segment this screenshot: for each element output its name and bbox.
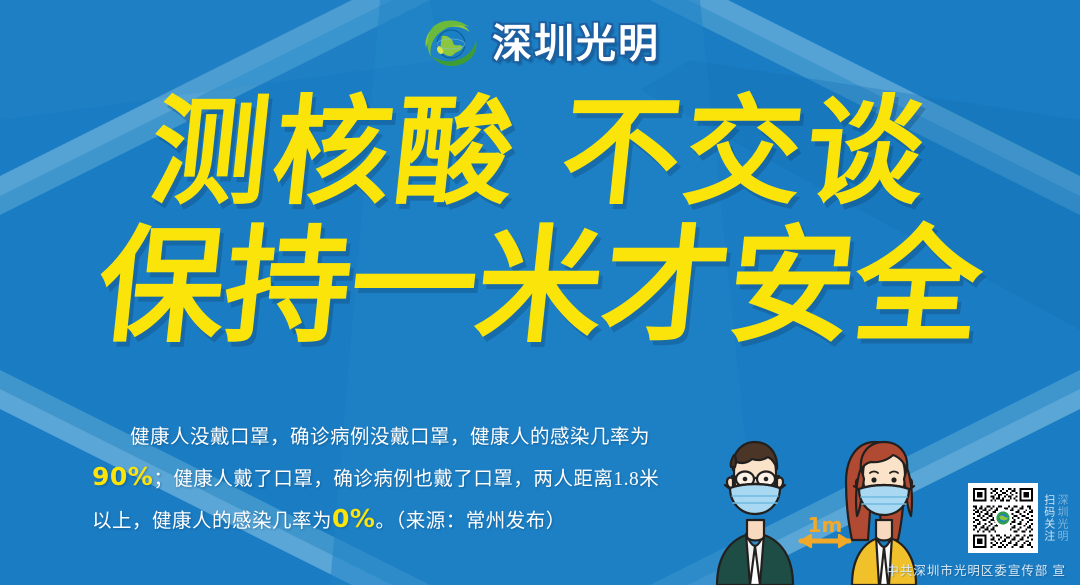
qr-code-icon[interactable] (968, 483, 1038, 553)
body-line-3-prefix: 以上，健康人的感染几率为 (92, 511, 332, 532)
brand-name: 深圳光明 (492, 24, 660, 64)
globe-swoosh-logo-icon (420, 14, 482, 74)
body-line-1: 健康人没戴口罩，确诊病例没戴口罩，健康人的感染几率为 (92, 418, 712, 457)
body-copy: 健康人没戴口罩，确诊病例没戴口罩，健康人的感染几率为 90%；健康人戴了口罩，确… (92, 418, 712, 541)
brand-header: 深圳光明 (0, 14, 1080, 74)
poster-canvas: 深圳光明 测核酸 不交谈 保持一米才安全 健康人没戴口罩，确诊病例没戴口罩，健康… (0, 0, 1080, 585)
stat-90-percent: 90% (92, 462, 153, 491)
headline-block: 测核酸 不交谈 保持一米才安全 (0, 96, 1080, 348)
headline-line-2: 保持一米才安全 (0, 227, 1080, 348)
body-line-3: 以上，健康人的感染几率为0%。（来源：常州发布） (92, 499, 712, 541)
qr-caption-col-2: 深圳光明 (1056, 494, 1068, 542)
qr-follow-block[interactable]: 扫码关注 深圳光明 (968, 483, 1068, 553)
body-line-2-rest: ；健康人戴了口罩，确诊病例也戴了口罩，两人距离1.8米 (153, 469, 659, 490)
qr-caption-col-1: 扫码关注 (1042, 494, 1054, 542)
masked-man-with-glasses (717, 442, 793, 585)
distance-label: 1m (808, 513, 843, 537)
body-line-2: 90%；健康人戴了口罩，确诊病例也戴了口罩，两人距离1.8米 (92, 457, 712, 499)
body-line-3-suffix: 。（来源：常州发布） (375, 511, 565, 532)
stat-0-percent: 0% (332, 504, 375, 533)
publisher-credit: 中共深圳市光明区委宣传部 宣 (886, 560, 1066, 579)
headline-line-1: 测核酸 不交谈 (0, 96, 1080, 209)
qr-caption: 扫码关注 深圳光明 (1042, 494, 1068, 542)
